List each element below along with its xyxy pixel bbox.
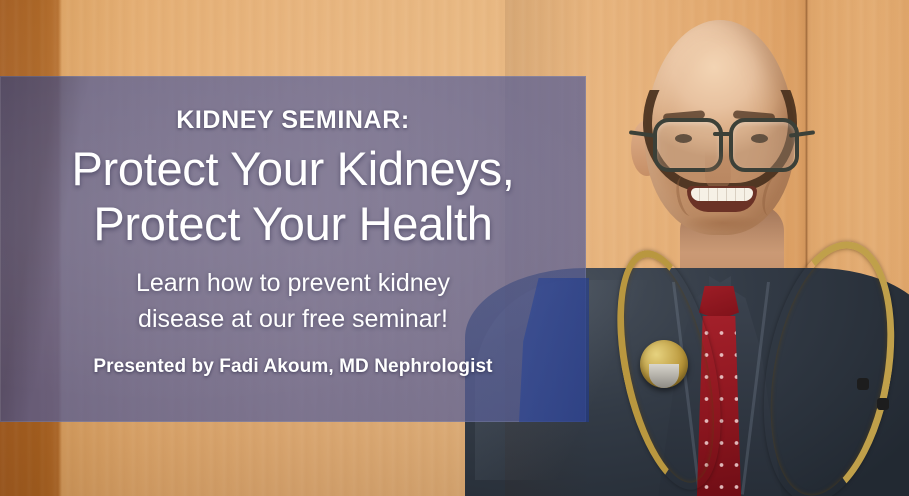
subtitle-line-2: disease at our free seminar!: [0, 302, 586, 338]
nose: [705, 150, 731, 190]
poster-image: KIDNEY SEMINAR: Protect Your Kidneys, Pr…: [0, 0, 909, 496]
subtitle-line-1: Learn how to prevent kidney: [136, 269, 450, 297]
text-overlay-panel: KIDNEY SEMINAR: Protect Your Kidneys, Pr…: [0, 76, 586, 422]
eyeglasses-bridge: [713, 132, 731, 136]
chin-shadow: [683, 214, 763, 232]
teeth: [691, 188, 753, 201]
stethoscope-eartip-a: [857, 378, 869, 390]
eyeglasses-lens-right: [729, 118, 799, 172]
presenter-credit: Presented by Fadi Akoum, MD Nephrologist: [0, 356, 586, 378]
stethoscope-eartip-b: [877, 398, 889, 410]
headline-line-2: Protect Your Health: [0, 197, 586, 252]
smiling-mouth: [687, 186, 757, 212]
stethoscope-chestpiece: [640, 340, 688, 388]
headline-line-1: Protect Your Kidneys,: [71, 142, 514, 195]
poster-headline: Protect Your Kidneys, Protect Your Healt…: [0, 142, 586, 252]
seminar-eyebrow-label: KIDNEY SEMINAR:: [0, 106, 586, 135]
poster-subtitle: Learn how to prevent kidney disease at o…: [0, 266, 586, 337]
poster-text-block: KIDNEY SEMINAR: Protect Your Kidneys, Pr…: [0, 76, 586, 422]
